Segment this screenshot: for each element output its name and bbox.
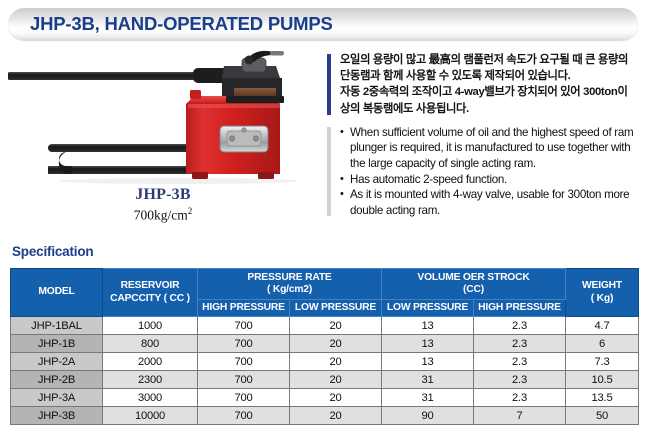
cell-reservoir: 1000: [103, 317, 198, 335]
cell-pressure-high: 700: [198, 389, 290, 407]
cell-volume-high: 2.3: [474, 389, 566, 407]
column-header-weight-line1: WEIGHT: [566, 280, 638, 293]
list-item: When sufficient volume of oil and the hi…: [340, 125, 639, 172]
korean-description-block: 오일의 용량이 많고 最高의 램풀런저 속도가 요구될 때 큰 용량의 단동램과…: [327, 52, 639, 117]
column-header-pressure-high: HIGH PRESSURE: [198, 300, 290, 317]
list-item: Has automatic 2-speed function.: [340, 172, 639, 188]
column-header-reservoir: RESERVOIR CAPCCITY ( CC ): [103, 269, 198, 317]
cell-model: JHP-1BAL: [11, 317, 103, 335]
cell-model: JHP-3B: [11, 407, 103, 425]
cell-pressure-low: 20: [290, 407, 382, 425]
table-header: MODEL RESERVOIR CAPCCITY ( CC ) PRESSURE…: [11, 269, 639, 317]
cell-weight: 50: [566, 407, 639, 425]
cell-model: JHP-1B: [11, 335, 103, 353]
english-description-block: When sufficient volume of oil and the hi…: [327, 125, 639, 219]
cell-pressure-high: 700: [198, 353, 290, 371]
cell-weight: 10.5: [566, 371, 639, 389]
cell-pressure-high: 700: [198, 317, 290, 335]
cell-pressure-high: 700: [198, 407, 290, 425]
table-row: JHP-1BAL 1000 700 20 13 2.3 4.7: [11, 317, 639, 335]
column-group-pressure-rate: PRESSURE RATE ( Kg/cm2): [198, 269, 382, 300]
specification-table-wrapper: MODEL RESERVOIR CAPCCITY ( CC ) PRESSURE…: [10, 268, 638, 425]
cell-pressure-low: 20: [290, 335, 382, 353]
table-row: JHP-3B 10000 700 20 90 7 50: [11, 407, 639, 425]
description-column: 오일의 용량이 많고 最高의 램풀런저 속도가 요구될 때 큰 용량의 단동램과…: [327, 52, 639, 218]
column-header-reservoir-line2: CAPCCITY ( CC ): [103, 293, 197, 306]
english-feature-list: When sufficient volume of oil and the hi…: [340, 125, 639, 219]
cell-model: JHP-2B: [11, 371, 103, 389]
list-item: As it is mounted with 4-way valve, usabl…: [340, 187, 639, 218]
cell-pressure-low: 20: [290, 353, 382, 371]
page-title: JHP-3B, HAND-OPERATED PUMPS: [30, 13, 333, 35]
cell-volume-high: 2.3: [474, 371, 566, 389]
cell-model: JHP-2A: [11, 353, 103, 371]
hand-operated-pump-illustration: [8, 48, 318, 188]
cell-reservoir: 2300: [103, 371, 198, 389]
cell-volume-high: 2.3: [474, 353, 566, 371]
product-pressure-label: 700kg/cm2: [8, 206, 318, 224]
cell-pressure-high: 700: [198, 371, 290, 389]
table-row: JHP-2A 2000 700 20 13 2.3 7.3: [11, 353, 639, 371]
cell-volume-high: 2.3: [474, 317, 566, 335]
cell-volume-high: 2.3: [474, 335, 566, 353]
column-group-pressure-rate-line2: ( Kg/cm2): [198, 284, 381, 297]
column-group-volume-per-stroke: VOLUME OER STROCK (CC): [382, 269, 566, 300]
cell-reservoir: 800: [103, 335, 198, 353]
cell-weight: 6: [566, 335, 639, 353]
cell-volume-low: 13: [382, 317, 474, 335]
column-header-reservoir-line1: RESERVOIR: [103, 280, 197, 293]
product-model-label: JHP-3B: [8, 186, 318, 204]
cell-volume-high: 7: [474, 407, 566, 425]
specification-section-label: Specification: [12, 244, 93, 259]
english-accent-rail: [327, 127, 331, 217]
cell-model: JHP-3A: [11, 389, 103, 407]
column-group-volume-line1: VOLUME OER STROCK: [382, 272, 565, 285]
cell-weight: 7.3: [566, 353, 639, 371]
table-row: JHP-2B 2300 700 20 31 2.3 10.5: [11, 371, 639, 389]
cell-pressure-low: 20: [290, 389, 382, 407]
cell-weight: 4.7: [566, 317, 639, 335]
column-header-volume-high: HIGH PRESSURE: [474, 300, 566, 317]
column-header-weight-line2: ( Kg): [566, 293, 638, 306]
cell-pressure-low: 20: [290, 317, 382, 335]
column-header-volume-low: LOW PRESSURE: [382, 300, 474, 317]
cell-reservoir: 2000: [103, 353, 198, 371]
column-header-model: MODEL: [11, 269, 103, 317]
cell-volume-low: 13: [382, 353, 474, 371]
column-header-pressure-low: LOW PRESSURE: [290, 300, 382, 317]
cell-weight: 13.5: [566, 389, 639, 407]
cell-volume-low: 31: [382, 389, 474, 407]
cell-volume-low: 90: [382, 407, 474, 425]
cell-volume-low: 31: [382, 371, 474, 389]
cell-reservoir: 3000: [103, 389, 198, 407]
column-header-weight: WEIGHT ( Kg): [566, 269, 639, 317]
cell-volume-low: 13: [382, 335, 474, 353]
korean-description-text: 오일의 용량이 많고 最高의 램풀런저 속도가 요구될 때 큰 용량의 단동램과…: [340, 52, 639, 117]
page-title-bar: JHP-3B, HAND-OPERATED PUMPS: [8, 8, 638, 40]
product-image-area: JHP-3B 700kg/cm2: [8, 48, 318, 236]
cell-pressure-high: 700: [198, 335, 290, 353]
table-body: JHP-1BAL 1000 700 20 13 2.3 4.7 JHP-1B 8…: [11, 317, 639, 425]
cell-reservoir: 10000: [103, 407, 198, 425]
korean-accent-rail: [327, 54, 331, 115]
column-group-pressure-rate-line1: PRESSURE RATE: [198, 272, 381, 285]
table-row: JHP-3A 3000 700 20 31 2.3 13.5: [11, 389, 639, 407]
specification-table: MODEL RESERVOIR CAPCCITY ( CC ) PRESSURE…: [10, 268, 639, 425]
cell-pressure-low: 20: [290, 371, 382, 389]
column-group-volume-line2: (CC): [382, 284, 565, 297]
table-row: JHP-1B 800 700 20 13 2.3 6: [11, 335, 639, 353]
product-caption: JHP-3B 700kg/cm2: [8, 186, 318, 224]
